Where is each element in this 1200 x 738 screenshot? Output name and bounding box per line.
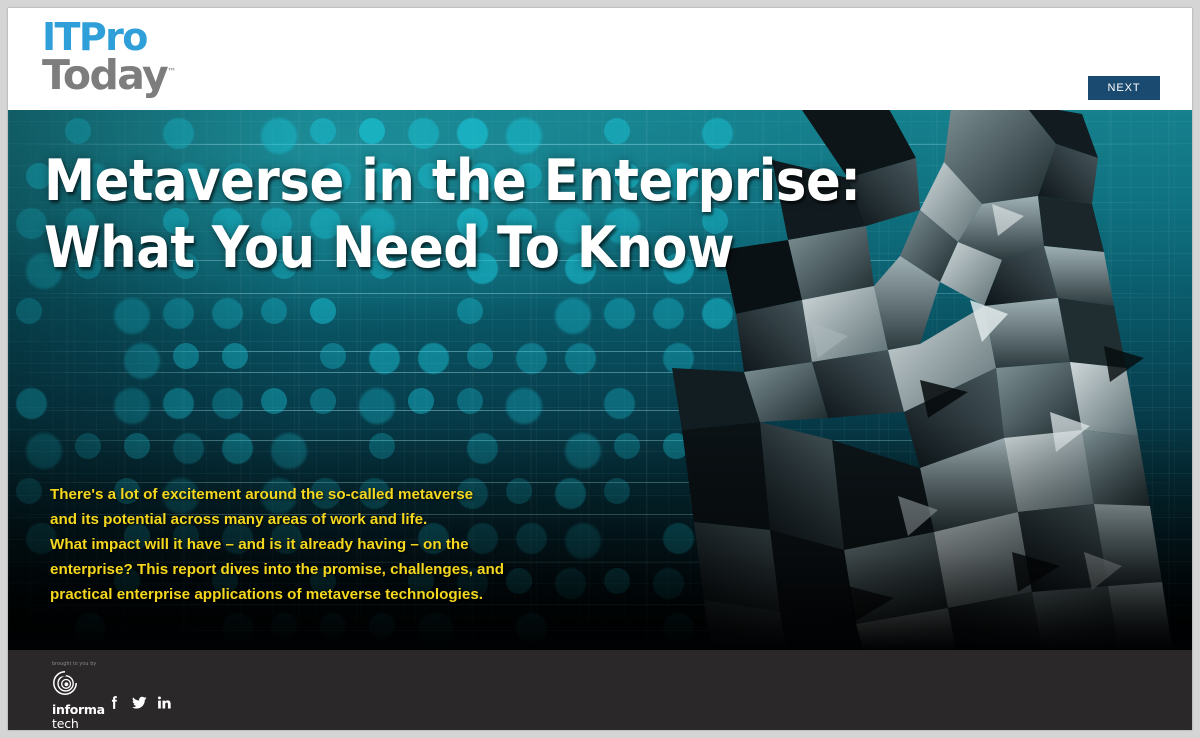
hero-banner: Metaverse in the Enterprise: What You Ne… [8, 110, 1192, 650]
logo-today-text: Today [42, 51, 167, 99]
hero-description: There's a lot of excitement around the s… [50, 482, 570, 607]
site-footer: brought to you by informa tech [8, 650, 1192, 730]
facebook-icon[interactable] [106, 694, 123, 711]
trademark-symbol: ™ [167, 67, 176, 77]
next-button[interactable]: NEXT [1088, 76, 1160, 100]
twitter-icon[interactable] [131, 694, 148, 711]
site-header: ITPro Today™ NEXT [8, 8, 1192, 110]
content-shell: ITPro Today™ NEXT [8, 8, 1192, 730]
brought-to-you-by-label: brought to you by [52, 662, 124, 667]
page-root: ITPro Today™ NEXT [0, 0, 1200, 738]
sponsor-subname: tech [52, 717, 124, 730]
itpro-today-logo[interactable]: ITPro Today™ [42, 20, 176, 95]
logo-line-itpro: ITPro [42, 20, 176, 55]
logo-line-today: Today™ [42, 57, 176, 95]
linkedin-icon[interactable] [156, 694, 173, 711]
social-links [106, 694, 173, 711]
page-title: Metaverse in the Enterprise: What You Ne… [44, 148, 860, 283]
